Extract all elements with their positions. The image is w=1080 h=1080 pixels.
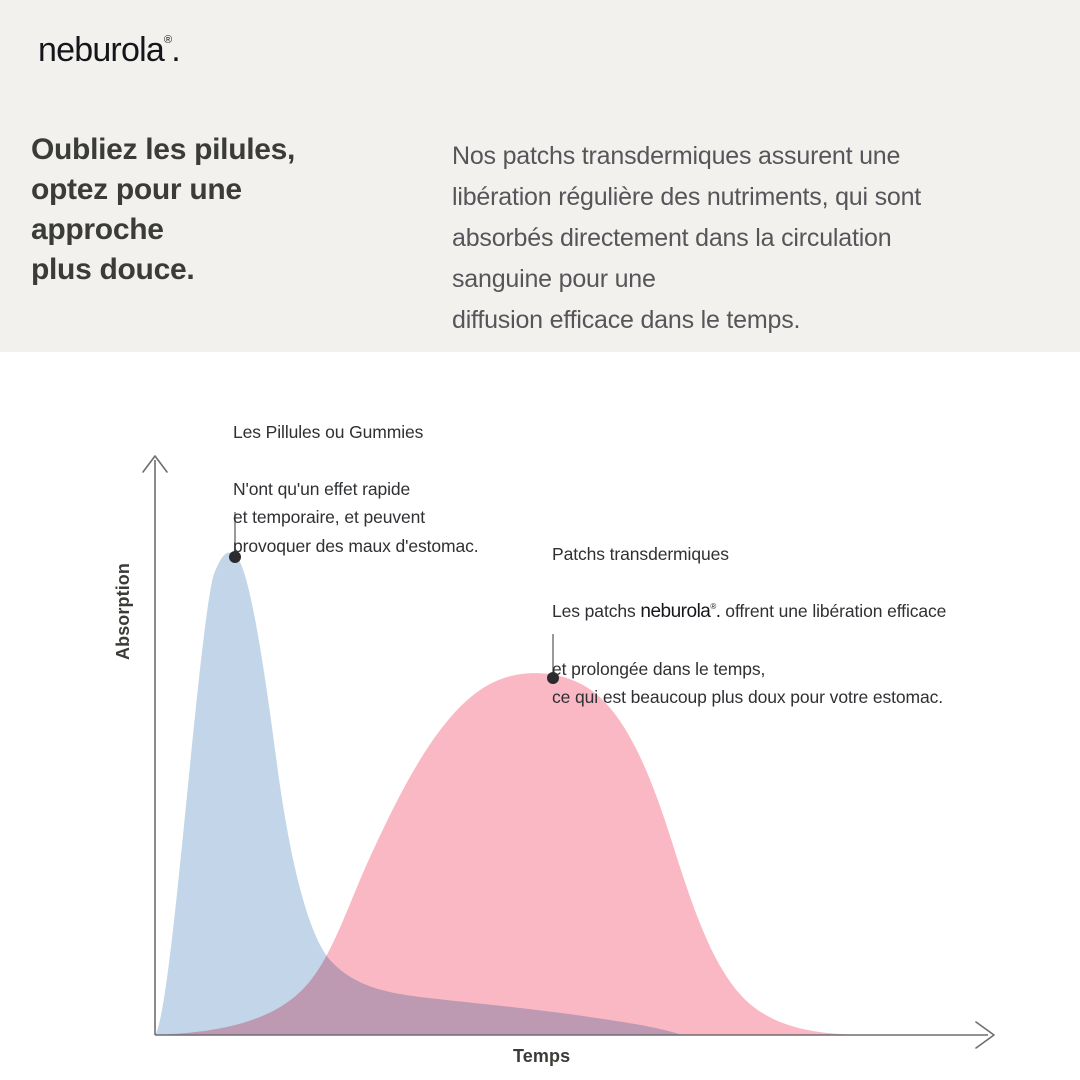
header-columns: Oubliez les pilules, optez pour une appr… [0,0,1080,352]
annotation-pills-title: Les Pillules ou Gummies [233,418,563,447]
annotation-patches-before-brand: Les patchs [552,601,640,621]
inline-brand-logo: neburola®. [640,601,720,622]
x-axis-label: Temps [513,1046,570,1067]
inline-brand-period: . [716,601,721,622]
header-band: neburola®. Oubliez les pilules, optez po… [0,0,1080,352]
inline-brand-word: neburola [640,601,710,622]
page-title: Oubliez les pilules, optez pour une appr… [31,130,431,290]
annotation-patches-line2: Les patchs neburola®. offrent une libéra… [552,597,1052,627]
y-axis-label: Absorption [113,563,134,660]
annotation-patches-title: Patchs transdermiques [552,540,1052,569]
annotation-patches-body-rest: et prolongée dans le temps, ce qui est b… [552,655,1052,712]
annotation-pills-body: N'ont qu'un effet rapide et temporaire, … [233,475,563,561]
annotation-patches: Patchs transdermiques Les patchs neburol… [552,511,1052,740]
annotation-patches-after-brand: offrent une libération efficace [721,601,947,621]
annotation-pills: Les Pillules ou Gummies N'ont qu'un effe… [233,389,563,589]
header-body-text: Nos patchs transdermiques assurent une l… [452,136,1067,341]
